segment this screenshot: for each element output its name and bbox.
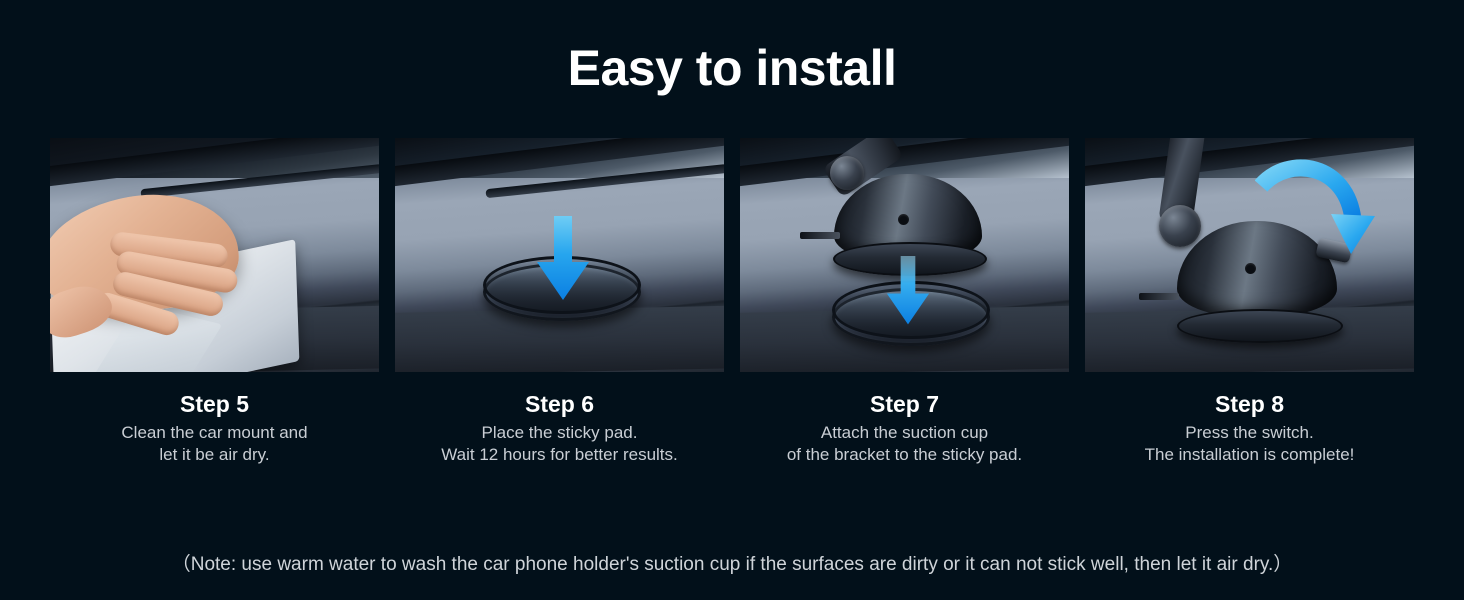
step-title: Step 6 — [395, 391, 724, 418]
step-title: Step 7 — [740, 391, 1069, 418]
step-caption: Step 5 Clean the car mount and let it be… — [50, 391, 379, 466]
down-arrow-icon — [880, 256, 936, 326]
step-description: Place the sticky pad. Wait 12 hours for … — [395, 422, 724, 466]
step-card-5: Step 5 Clean the car mount and let it be… — [50, 138, 379, 466]
step-image-place-sticky-pad — [395, 138, 724, 372]
step-image-attach-suction-cup — [740, 138, 1069, 372]
step-card-8: Step 8 Press the switch. The installatio… — [1085, 138, 1414, 466]
page-title: Easy to install — [0, 38, 1464, 98]
step-title: Step 5 — [50, 391, 379, 418]
mount-pivot-knob — [830, 156, 864, 190]
step-image-press-switch — [1085, 138, 1414, 372]
suction-cup-vent-hole — [898, 214, 909, 225]
step-caption: Step 7 Attach the suction cup of the bra… — [740, 391, 1069, 466]
step-card-6: Step 6 Place the sticky pad. Wait 12 hou… — [395, 138, 724, 466]
step-title: Step 8 — [1085, 391, 1414, 418]
step-description: Clean the car mount and let it be air dr… — [50, 422, 379, 466]
step-description: Attach the suction cup of the bracket to… — [740, 422, 1069, 466]
step-description: Press the switch. The installation is co… — [1085, 422, 1414, 466]
step-image-clean-dashboard — [50, 138, 379, 372]
release-tab — [800, 232, 840, 239]
step-caption: Step 8 Press the switch. The installatio… — [1085, 391, 1414, 466]
steps-row: Step 5 Clean the car mount and let it be… — [50, 138, 1414, 466]
step-caption: Step 6 Place the sticky pad. Wait 12 hou… — [395, 391, 724, 466]
step-card-7: Step 7 Attach the suction cup of the bra… — [740, 138, 1069, 466]
footer-note: （Note: use warm water to wash the car ph… — [0, 552, 1464, 578]
suction-cup-base — [1177, 309, 1343, 343]
release-tab — [1139, 293, 1179, 300]
mount-pivot-knob — [1159, 205, 1201, 247]
down-arrow-icon — [535, 216, 591, 302]
curved-arrow-icon — [1255, 158, 1375, 268]
